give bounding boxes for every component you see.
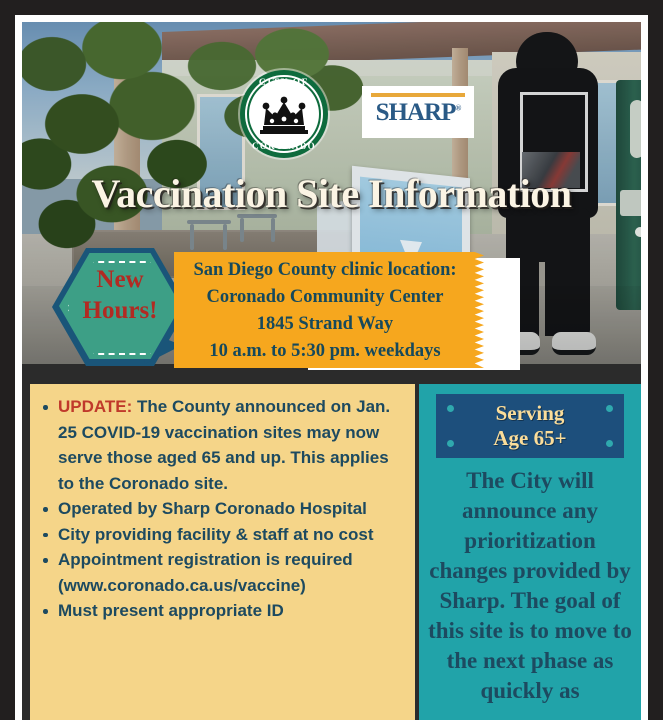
details-panel: UPDATE: The County announced on Jan. 25 … bbox=[30, 384, 415, 720]
seal-bottom-text: CORONADO bbox=[240, 141, 328, 151]
city-of-coronado-seal: CITY OF CORONADO bbox=[240, 70, 328, 158]
sharp-gold-bar bbox=[371, 93, 465, 97]
details-bullet-list: UPDATE: The County announced on Jan. 25 … bbox=[30, 384, 415, 624]
location-line-3: 1845 Strand Way bbox=[180, 311, 470, 338]
location-line-2: Coronado Community Center bbox=[180, 284, 470, 311]
update-label: UPDATE: bbox=[58, 397, 132, 416]
location-banner-body: San Diego County clinic location: Corona… bbox=[174, 252, 484, 365]
details-bullet-text: Appointment registration is required (ww… bbox=[58, 550, 353, 595]
details-bullet-item: Appointment registration is required (ww… bbox=[58, 547, 405, 598]
seal-top-text: CITY OF bbox=[240, 78, 328, 88]
poster-root: CITY OF CORONADO SHARP® Vaccination S bbox=[0, 0, 663, 720]
location-line-4: 10 a.m. to 5:30 pm. weekdays bbox=[180, 338, 470, 365]
page-title: Vaccination Site Information bbox=[22, 170, 641, 217]
badge-text: New Hours! bbox=[59, 264, 181, 327]
sharp-wordmark-text: SHARP bbox=[376, 99, 456, 126]
plaque-text: Serving Age 65+ bbox=[436, 401, 624, 451]
sharp-registered-mark: ® bbox=[455, 104, 460, 113]
details-bullet-text: Must present appropriate ID bbox=[58, 601, 284, 620]
details-bullet-item: UPDATE: The County announced on Jan. 25 … bbox=[58, 394, 405, 496]
poster-content-frame: CITY OF CORONADO SHARP® Vaccination S bbox=[22, 22, 641, 720]
location-banner: San Diego County clinic location: Corona… bbox=[174, 252, 484, 368]
bottom-panels: UPDATE: The County announced on Jan. 25 … bbox=[22, 384, 641, 720]
sharp-healthcare-logo: SHARP® bbox=[362, 86, 474, 138]
badge-text-line1: New bbox=[59, 264, 181, 295]
location-line-1: San Diego County clinic location: bbox=[180, 257, 470, 284]
crown-icon bbox=[255, 92, 313, 136]
details-bullet-text: Operated by Sharp Coronado Hospital bbox=[58, 499, 367, 518]
details-bullet-text: City providing facility & staff at no co… bbox=[58, 525, 373, 544]
serving-age-plaque: Serving Age 65+ bbox=[436, 394, 624, 458]
details-bullet-item: City providing facility & staff at no co… bbox=[58, 522, 405, 548]
sharp-wordmark: SHARP® bbox=[362, 99, 474, 127]
details-bullet-item: Operated by Sharp Coronado Hospital bbox=[58, 496, 405, 522]
serving-panel: Serving Age 65+ The City will announce a… bbox=[419, 384, 641, 720]
details-bullet-item: Must present appropriate ID bbox=[58, 598, 405, 624]
serving-panel-body: The City will announce any prioritizatio… bbox=[427, 466, 633, 706]
badge-text-line2: Hours! bbox=[59, 295, 181, 326]
plaque-line-1: Serving bbox=[436, 401, 624, 426]
plaque-line-2: Age 65+ bbox=[436, 426, 624, 451]
